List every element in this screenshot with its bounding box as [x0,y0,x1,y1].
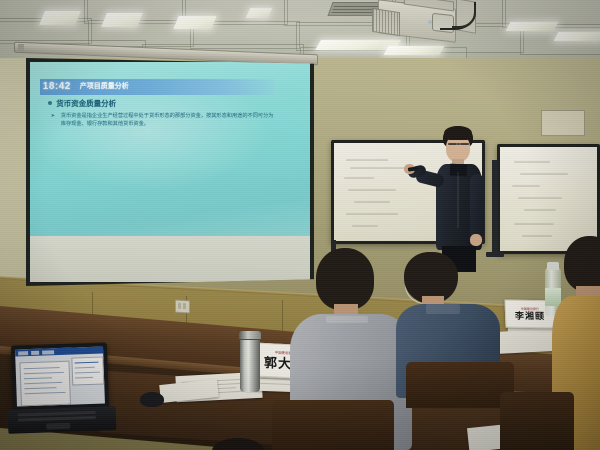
laptop-spreadsheet-window[interactable] [71,356,104,385]
laptop-keyboard-base[interactable] [8,406,117,434]
ceiling-light [506,22,559,31]
attendee-head [316,248,374,310]
laptop-toolbar [15,346,103,356]
projected-slide: 18:42 产项目质量分析 货币资金质量分析 ➤ 货币资金是指企业生产经营过程中… [30,62,310,236]
screen-blank-area [30,236,310,282]
wall-outlet[interactable] [175,300,190,314]
presenter-placket [457,172,459,228]
thermos-tumbler[interactable] [240,336,260,392]
attendee-head [564,236,600,292]
slide-bullet-text: 货币资金质量分析 [56,98,116,109]
presenter-glasses [448,143,457,145]
timestamp-overlay: 18:42 [40,79,74,96]
name-card-name: 李湘颐 [515,311,545,321]
laptop-trackpad[interactable] [46,423,70,430]
ceiling-light [173,16,216,29]
chevron-right-icon: ➤ [51,113,55,121]
attendee-collar [426,304,460,314]
screen-roller-bracket [18,44,24,52]
screen-surface: 18:42 产项目质量分析 货币资金质量分析 ➤ 货币资金是指企业生产经营过程中… [30,62,310,282]
presenter-hair-top [444,126,472,140]
attendee-collar [326,316,368,323]
presenter-right-hand [470,234,482,246]
thermos-lid[interactable] [239,331,261,340]
presenter [410,126,502,272]
slide-subbullet-text: 货币资金是指企业生产经营过程中处于货币形态的那部分资金，按其形态和用途的不同可分… [61,113,274,127]
presenter-glasses-bridge [457,143,460,145]
ceiling-light [554,32,600,41]
bullet-marker-icon [48,101,52,105]
slide-bullet-level2: ➤ 货币资金是指企业生产经营过程中处于货币形态的那部分资金，按其形态和用途的不同… [61,112,274,128]
ceiling-light [246,8,272,18]
ceiling-light [101,13,143,27]
ceiling-light [383,46,444,55]
laptop-lid [11,342,109,411]
presenter-right-arm [470,174,484,238]
laptop-document-window[interactable] [19,361,71,407]
computer-mouse[interactable] [140,392,164,407]
meeting-room-photo: 18:42 产项目质量分析 货币资金质量分析 ➤ 货币资金是指企业生产经营过程中… [0,0,600,450]
wall-poster [541,110,585,136]
projector-vent [372,8,400,36]
chair-back[interactable] [406,362,514,408]
projector-status-light [428,20,432,24]
chair-back[interactable] [272,400,394,450]
slide-title-bar: 18:42 产项目质量分析 [40,79,275,96]
slide-title: 产项目质量分析 [80,78,129,95]
chair-back[interactable] [500,392,574,450]
slide-bullet-level1: 货币资金质量分析 [48,98,116,109]
projection-screen: 18:42 产项目质量分析 货币资金质量分析 ➤ 货币资金是指企业生产经营过程中… [26,58,314,286]
ceiling-light [39,11,81,25]
laptop-screen[interactable] [15,346,105,406]
presenter-glasses [460,143,469,145]
